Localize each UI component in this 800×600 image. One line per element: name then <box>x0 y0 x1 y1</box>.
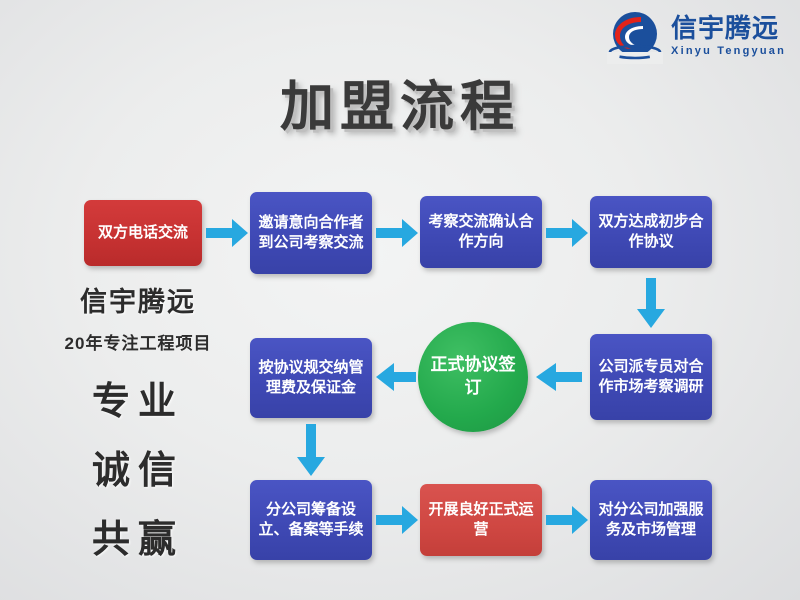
slogan-word-2: 诚信 <box>28 439 248 494</box>
brand-logo-text: 信宇腾远 Xinyu Tengyuan <box>671 15 786 57</box>
flow-node-phone-contact[interactable]: 双方电话交流 <box>84 200 202 266</box>
slogan-block: 信宇腾远 20年专注工程项目 专业 诚信 共赢 <box>28 280 248 563</box>
brand-name-cn: 信宇腾远 <box>671 15 779 41</box>
flow-node-preliminary-agreement[interactable]: 双方达成初步合作协议 <box>590 196 712 268</box>
arrow-n3-to-n4 <box>546 219 588 247</box>
flow-node-branch-setup[interactable]: 分公司筹备设立、备案等手续 <box>250 480 372 560</box>
flow-node-pay-fees[interactable]: 按协议规交纳管理费及保证金 <box>250 338 372 418</box>
slogan-word-1: 专业 <box>28 370 248 425</box>
arrow-n6-to-n7 <box>376 363 416 391</box>
arrow-n5-to-n6 <box>536 363 582 391</box>
flow-node-invite-visit[interactable]: 邀请意向合作者到公司考察交流 <box>250 192 372 274</box>
flow-node-start-operation[interactable]: 开展良好正式运营 <box>420 484 542 556</box>
flowchart-slide: 信宇腾远 Xinyu Tengyuan 加盟流程 信宇腾远 20年专注工程项目 … <box>0 0 800 600</box>
flow-node-strengthen-service[interactable]: 对分公司加强服务及市场管理 <box>590 480 712 560</box>
arrow-n8-to-n9 <box>376 506 418 534</box>
slogan-word-3: 共赢 <box>28 508 248 563</box>
page-title: 加盟流程 <box>0 62 800 141</box>
flow-node-sign-agreement[interactable]: 正式协议签订 <box>418 322 528 432</box>
brand-logo: 信宇腾远 Xinyu Tengyuan <box>607 8 786 64</box>
slogan-brand: 信宇腾远 <box>28 280 248 319</box>
flow-node-confirm-direction[interactable]: 考察交流确认合作方向 <box>420 196 542 268</box>
slogan-subtitle: 20年专注工程项目 <box>28 329 248 354</box>
arrow-n2-to-n3 <box>376 219 418 247</box>
arrow-n1-to-n2 <box>206 219 248 247</box>
arrow-n4-to-n5 <box>637 278 665 328</box>
brand-name-en: Xinyu Tengyuan <box>671 46 786 57</box>
arrow-n7-to-n8 <box>297 424 325 476</box>
flow-node-market-research[interactable]: 公司派专员对合作市场考察调研 <box>590 334 712 420</box>
arrow-n9-to-n10 <box>546 506 588 534</box>
slogan-words: 专业 诚信 共赢 <box>28 370 248 563</box>
company-swoosh-logo-icon <box>607 8 663 64</box>
